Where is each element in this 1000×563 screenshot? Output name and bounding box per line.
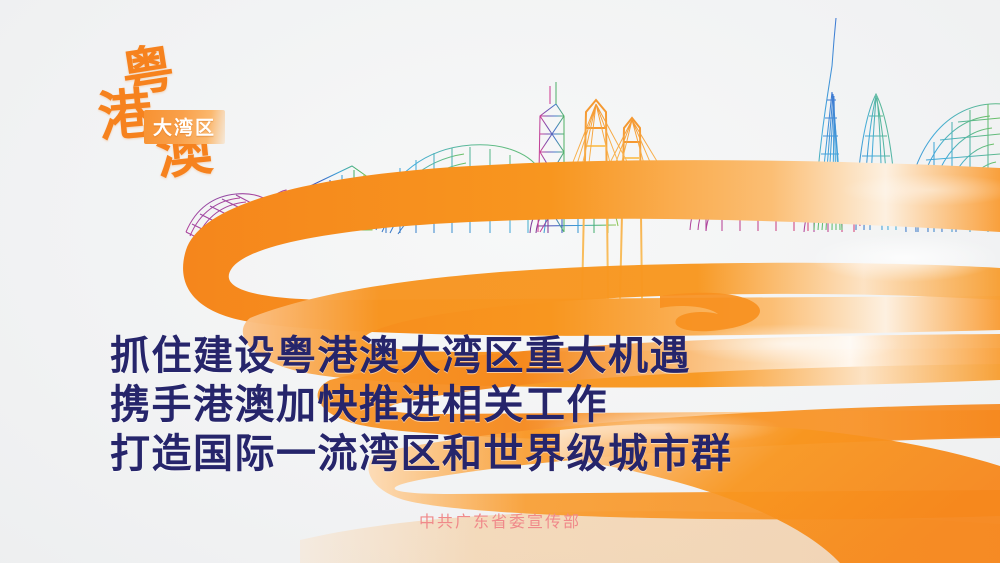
footer-attribution: 中共广东省委宣传部 — [0, 508, 1000, 532]
headline-line-1: 抓住建设粤港澳大湾区重大机遇 — [110, 332, 733, 381]
poster-canvas: 粤 港 澳 大湾区 抓住建设粤港澳大湾区重大机遇 携手港澳加快推进相关工作 打造… — [0, 0, 1000, 563]
headline-line-2: 携手港澳加快推进相关工作 — [110, 381, 733, 430]
ribbon-glow-1 — [810, 234, 1000, 282]
headline-line-3: 打造国际一流湾区和世界级城市群 — [110, 430, 733, 479]
headline-block: 抓住建设粤港澳大湾区重大机遇 携手港澳加快推进相关工作 打造国际一流湾区和世界级… — [110, 332, 733, 479]
